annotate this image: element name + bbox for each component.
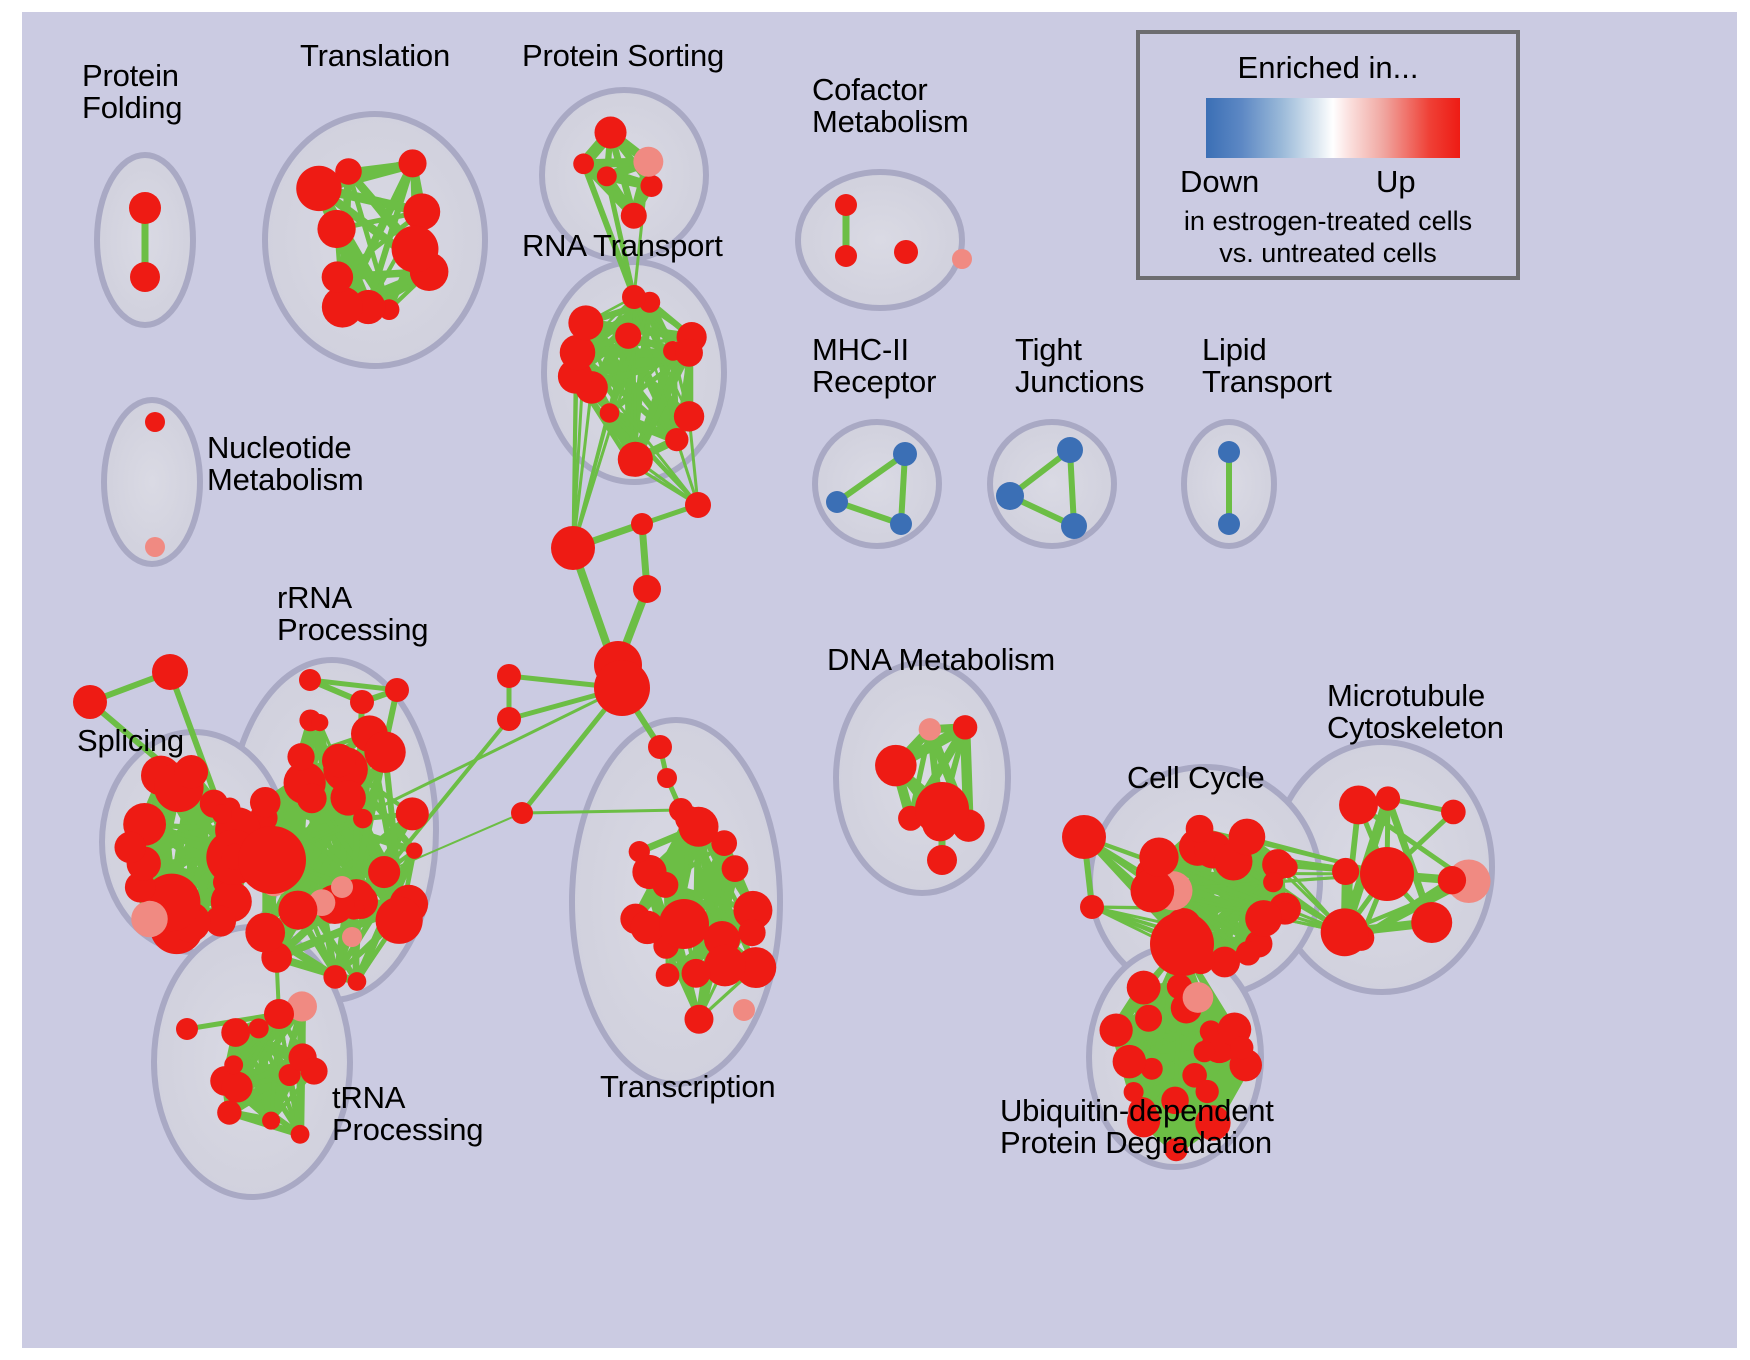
cluster-label-transcription: Transcription (600, 1071, 775, 1103)
legend-panel: Enriched in... Down Up in estrogen-treat… (1136, 30, 1520, 280)
network-node (130, 262, 160, 292)
network-node (890, 513, 912, 535)
figure-canvas: Protein FoldingTranslationProtein Sortin… (0, 0, 1750, 1360)
cluster-label-cofactor-metabolism: Cofactor Metabolism (812, 74, 969, 138)
network-node (835, 194, 857, 216)
network-node (212, 804, 232, 824)
network-node (342, 927, 362, 947)
network-node (952, 249, 972, 269)
network-node (376, 897, 423, 944)
network-node (835, 245, 857, 267)
network-node (1438, 866, 1466, 894)
legend-down-label: Down (1180, 164, 1259, 200)
network-node (114, 832, 146, 864)
network-node (594, 660, 650, 716)
cluster-label-microtubule-cytoskeleton: Microtubule Cytoskeleton (1327, 680, 1504, 744)
network-node (353, 809, 372, 828)
network-node (893, 442, 917, 466)
network-node (364, 731, 405, 772)
network-node (129, 192, 161, 224)
cluster-label-rna-transport: RNA Transport (522, 230, 723, 262)
network-node (1263, 872, 1283, 892)
cluster-label-mhc-ii-receptor: MHC-II Receptor (812, 334, 936, 398)
network-node (622, 285, 646, 309)
network-node (176, 1018, 198, 1040)
network-node (659, 899, 709, 949)
network-node (368, 856, 400, 888)
network-node (953, 715, 977, 739)
network-node (249, 1018, 269, 1038)
network-node (615, 323, 641, 349)
network-node (1360, 847, 1414, 901)
network-node (621, 203, 647, 229)
network-node (322, 261, 353, 292)
network-node (403, 193, 440, 230)
network-node (317, 210, 355, 248)
network-node (245, 913, 285, 953)
network-node (287, 743, 314, 770)
network-node (323, 965, 347, 989)
network-node (919, 718, 941, 740)
network-node (1441, 800, 1466, 825)
network-node (296, 166, 341, 211)
network-node (511, 802, 533, 824)
network-node (1332, 858, 1359, 885)
network-node (733, 999, 755, 1021)
network-node (217, 1100, 241, 1124)
network-node (1339, 786, 1378, 825)
network-node (600, 403, 620, 423)
network-node (665, 428, 688, 451)
network-node (1411, 902, 1452, 943)
network-node (657, 768, 677, 788)
legend-subtitle-line-2: vs. untreated cells (1140, 238, 1516, 269)
network-node (497, 664, 521, 688)
cluster-label-dna-metabolism: DNA Metabolism (827, 644, 1055, 676)
network-node (1186, 815, 1214, 843)
network-node (597, 166, 617, 186)
network-node (131, 901, 168, 938)
network-node (640, 175, 662, 197)
network-node (927, 845, 957, 875)
network-node (1135, 1005, 1162, 1032)
network-node (674, 401, 704, 431)
network-node (1113, 1045, 1146, 1078)
legend-color-gradient (1206, 98, 1460, 158)
network-node (684, 1005, 713, 1034)
network-node (633, 575, 661, 603)
network-node (652, 872, 678, 898)
network-node (398, 149, 426, 177)
network-node (826, 491, 848, 513)
network-node (1080, 895, 1104, 919)
network-node (1229, 819, 1266, 856)
network-node (322, 286, 363, 327)
cluster-label-splicing: Splicing (77, 725, 184, 757)
network-node (573, 153, 594, 174)
cluster-label-trna-processing: tRNA Processing (332, 1082, 483, 1146)
network-node (497, 707, 521, 731)
network-node (322, 744, 356, 778)
network-node (264, 999, 294, 1029)
hull-cofactor-metabolism (798, 172, 962, 308)
network-node (1218, 513, 1240, 535)
network-node (633, 147, 663, 177)
network-node (299, 669, 321, 691)
network-diagram: Protein FoldingTranslationProtein Sortin… (22, 12, 1737, 1348)
network-node (297, 784, 327, 814)
legend-subtitle-line-1: in estrogen-treated cells (1140, 206, 1516, 237)
network-node (551, 526, 595, 570)
cluster-label-cell-cycle: Cell Cycle (1127, 762, 1265, 794)
cluster-label-nucleotide-metabolism: Nucleotide Metabolism (207, 432, 364, 496)
network-node (396, 797, 429, 830)
network-node (738, 919, 765, 946)
network-node (392, 226, 439, 273)
network-node (618, 442, 653, 477)
network-node (152, 654, 188, 690)
network-node (1245, 900, 1282, 937)
cluster-label-protein-sorting: Protein Sorting (522, 40, 724, 72)
network-node (675, 339, 703, 367)
network-node (711, 830, 737, 856)
network-node (560, 335, 596, 371)
network-node (278, 891, 317, 930)
network-node (1062, 815, 1106, 859)
network-node (406, 842, 422, 858)
network-node (685, 492, 711, 518)
network-node (629, 841, 650, 862)
network-node (656, 963, 680, 987)
hull-dna-metabolism (836, 663, 1008, 893)
network-node (300, 1058, 327, 1085)
network-node (331, 876, 353, 898)
network-node (996, 482, 1024, 510)
network-node (894, 240, 918, 264)
cluster-label-tight-junctions: Tight Junctions (1015, 334, 1144, 398)
network-node (1230, 1036, 1253, 1059)
network-node (73, 685, 107, 719)
network-node (385, 678, 409, 702)
network-node (335, 158, 362, 185)
network-node (915, 782, 969, 836)
network-node (1139, 838, 1178, 877)
network-node (145, 412, 165, 432)
network-node (174, 755, 208, 789)
network-node (1057, 437, 1083, 463)
network-node (722, 855, 749, 882)
legend-up-label: Up (1376, 164, 1416, 200)
network-node (1218, 441, 1240, 463)
network-node (221, 1018, 250, 1047)
network-node (631, 513, 653, 535)
network-node (222, 1072, 253, 1103)
network-node (348, 972, 367, 991)
network-node (594, 117, 626, 149)
network-node (875, 745, 917, 787)
network-node (250, 787, 281, 818)
cluster-label-protein-folding: Protein Folding (82, 60, 182, 124)
network-node (1099, 1013, 1132, 1046)
legend-title: Enriched in... (1140, 50, 1516, 86)
network-node (682, 959, 711, 988)
cluster-label-translation: Translation (300, 40, 450, 72)
network-node (1150, 912, 1214, 976)
network-node (224, 1055, 243, 1074)
cluster-label-lipid-transport: Lipid Transport (1202, 334, 1332, 398)
network-node (350, 690, 374, 714)
network-node (704, 945, 746, 987)
network-node (568, 305, 603, 340)
network-node-hub (238, 826, 306, 894)
network-node (262, 1112, 280, 1130)
network-node (1321, 908, 1369, 956)
network-node (1194, 1041, 1216, 1063)
hull-mhc-ii-receptor (815, 422, 939, 546)
network-node (1183, 982, 1214, 1013)
network-node (1376, 786, 1400, 810)
network-node (1061, 513, 1087, 539)
network-node (1127, 971, 1161, 1005)
network-node (291, 1125, 310, 1144)
network-node (311, 714, 328, 731)
cluster-label-rrna-processing: rRNA Processing (277, 582, 428, 646)
network-node (145, 537, 165, 557)
network-node (631, 911, 665, 945)
network-node (648, 735, 672, 759)
cluster-label-ubiquitin-protein-degradation: Ubiquitin-dependent Protein Degradation (1000, 1095, 1274, 1159)
